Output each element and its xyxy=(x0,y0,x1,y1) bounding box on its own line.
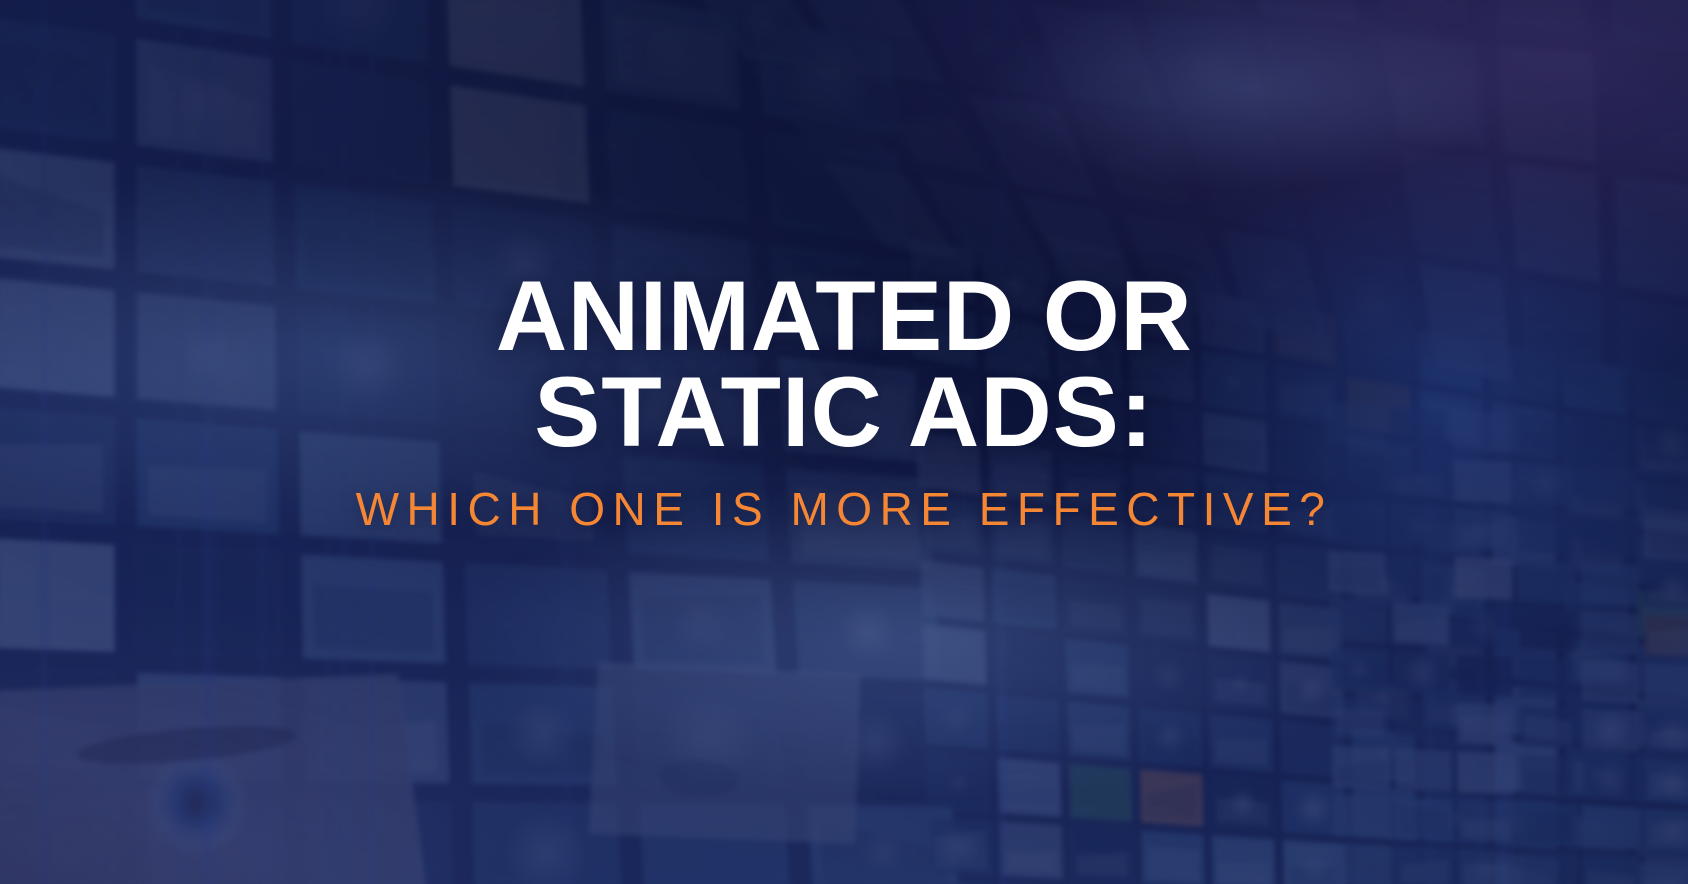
hero-banner: ANIMATED OR STATIC ADS: WHICH ONE IS MOR… xyxy=(0,0,1688,884)
background-video-wall-photo xyxy=(0,0,1688,884)
video-wall-canvas xyxy=(0,0,1688,884)
